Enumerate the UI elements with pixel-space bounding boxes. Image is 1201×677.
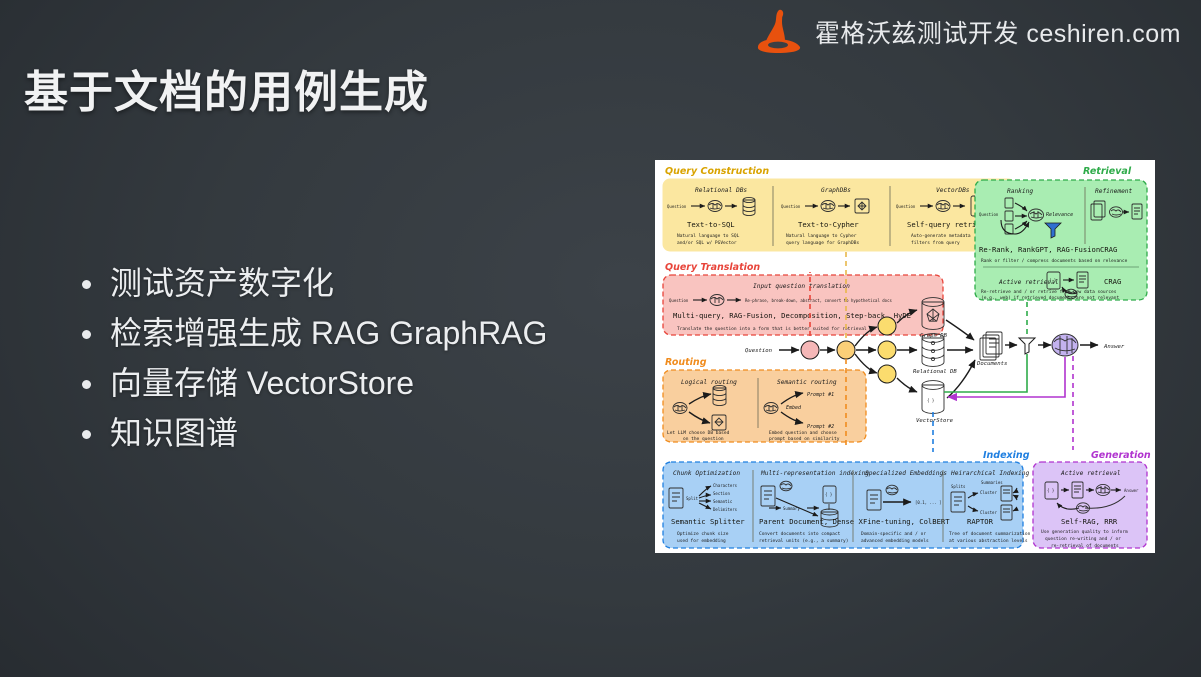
- brand-text: 霍格沃兹测试开发 ceshiren.com: [815, 14, 1181, 50]
- retrieval-active-desc1: Re-retrieve and / or retrive from new da…: [981, 289, 1117, 295]
- routing-col0-desc1: Let LLM choose DB based: [667, 430, 730, 436]
- idx-col0-desc2: used for embedding: [677, 538, 726, 544]
- idx-col3-desc2: at various abstraction levels: [949, 538, 1028, 544]
- retrieval-active-method: CRAG: [1104, 277, 1121, 286]
- list-item: 检索增强生成 RAG GraphRAG: [78, 308, 547, 358]
- section-title-routing: Routing: [665, 357, 707, 368]
- list-item: 知识图谱: [78, 408, 547, 458]
- idx-col0-split-item-0: Characters: [713, 483, 738, 488]
- retrieval-ranking-desc: Rank or filter / compress documents base…: [981, 258, 1128, 264]
- idx-col1-method: Parent Document, Dense X: [759, 517, 864, 526]
- routing-embed-label: Embed: [786, 405, 802, 411]
- idx-col2-desc2: advanced embedding models: [861, 538, 929, 544]
- idx-col1-desc1: Convert documents into compact: [759, 531, 841, 537]
- idx-col0-method: Semantic Splitter: [671, 517, 745, 526]
- center-node-relational-db: Relational DB: [913, 369, 957, 375]
- qc-col0-desc1: Natural language to SQL: [677, 233, 740, 239]
- routing-col1-heading: Semantic routing: [777, 378, 837, 386]
- idx-col3-cluster-2: Cluster: [980, 510, 997, 515]
- qc-col0-method: Text-to-SQL: [687, 220, 735, 229]
- retrieval-active-vector-glyph: { }: [1049, 278, 1056, 283]
- qt-heading: Input question translation: [753, 282, 850, 290]
- bullet-list: 测试资产数字化 检索增强生成 RAG GraphRAG 向量存储 VectorS…: [78, 258, 547, 458]
- retrieval-flow-in: Question: [979, 212, 999, 217]
- gen-desc3: re-retrieval of documents: [1051, 543, 1119, 549]
- qc-col0-desc2: and/or SQL w/ PGVector: [677, 240, 737, 246]
- routing-col1-desc2: prompt based on similarity: [769, 436, 840, 442]
- center-question-label: Question: [745, 348, 772, 354]
- brand-header: 霍格沃兹测试开发 ceshiren.com: [755, 8, 1181, 56]
- routing-col0-heading: Logical routing: [681, 378, 737, 386]
- section-title-query-construction: Query Construction: [665, 166, 769, 177]
- section-title-query-translation: Query Translation: [665, 262, 760, 273]
- section-title-generation: Generation: [1091, 450, 1151, 461]
- retrieval-active-desc2: (e.g., web) if retrieved documents are n…: [981, 295, 1119, 301]
- retrieval-relevance-label: Relevance: [1046, 212, 1073, 218]
- gen-desc2: question re-writing and / or: [1045, 536, 1121, 542]
- idx-col0-desc1: Optimize chunk size: [677, 531, 729, 537]
- qc-col1-method: Text-to-Cypher: [798, 220, 859, 229]
- qc-col2-desc1: Auto-generate metadata: [911, 233, 971, 239]
- gen-heading: Active retrieval: [1060, 469, 1121, 477]
- qc-col0-heading: Relational DBs: [695, 186, 747, 194]
- idx-col3-split-label: Splits: [951, 484, 966, 489]
- retrieval-col1-heading: Refinement: [1095, 187, 1133, 195]
- qc-col2-heading: VectorDBs: [936, 186, 970, 194]
- center-vectorstore-glyph: { }: [927, 398, 934, 403]
- idx-col1-desc2: retrieval units (e.g., a summary): [759, 538, 848, 544]
- wizard-hat-icon: [755, 8, 805, 56]
- idx-col0-split-item-3: Delimiters: [713, 507, 738, 512]
- idx-col2-vector-label: [0.1, ... ]: [915, 500, 942, 505]
- rag-overview-diagram: .ttl { font-family:"DejaVu Sans",sans-se…: [655, 160, 1155, 553]
- idx-col0-heading: Chunk Optimization: [673, 469, 740, 477]
- center-node-vectorstore: VectorStore: [916, 418, 954, 424]
- qc-col2-flow-in: Question: [896, 204, 916, 209]
- qc-col1-desc2: query language for GraphDBs: [786, 240, 859, 246]
- gen-flow-answer: Answer: [1124, 488, 1139, 493]
- idx-col2-heading: Specialized Embeddings: [865, 470, 947, 477]
- gen-vector-glyph: { }: [1047, 488, 1054, 493]
- list-item: 测试资产数字化: [78, 258, 547, 308]
- idx-col1-node-label: Summary: [783, 506, 800, 511]
- section-title-retrieval: Retrieval: [1083, 166, 1132, 177]
- idx-col0-split-item-2: Semantic: [713, 499, 733, 504]
- idx-col3-method: RAPTOR: [967, 517, 994, 526]
- qc-col0-flow-in: Question: [667, 204, 687, 209]
- qt-desc: Translate the question into a form that …: [677, 326, 867, 332]
- qt-flow-in: Question: [669, 298, 689, 303]
- center-documents-label: Documents: [976, 361, 1007, 367]
- idx-col2-desc1: Domain-specific and / or: [861, 531, 926, 537]
- routing-prompt-2: Prompt #2: [807, 424, 834, 430]
- idx-col0-split-label: Split: [686, 496, 699, 501]
- retrieval-refinement-method: CRAG: [1100, 245, 1117, 254]
- section-title-indexing: Indexing: [983, 450, 1030, 461]
- qc-col1-heading: GraphDBs: [821, 187, 851, 194]
- idx-col3-summaries-label: Summaries: [981, 480, 1003, 485]
- list-item: 向量存储 VectorStore: [78, 358, 547, 408]
- retrieval-col0-heading: Ranking: [1007, 188, 1033, 195]
- qt-methods: Multi-query, RAG-Fusion, Decomposition, …: [673, 311, 911, 320]
- retrieval-ranking-methods: Re-Rank, RankGPT, RAG-Fusion: [979, 245, 1100, 254]
- gen-desc1: Use generation quality to inform: [1041, 529, 1128, 535]
- qt-flow-out: Re-phrase, break-down, abstract, convert…: [745, 298, 892, 303]
- qc-col1-flow-in: Question: [781, 204, 801, 209]
- routing-col0-desc2: on the question: [683, 436, 724, 442]
- idx-col2-method: Fine-tuning, ColBERT: [863, 517, 950, 526]
- routing-prompt-1: Prompt #1: [807, 392, 834, 398]
- center-answer-label: Answer: [1103, 344, 1125, 350]
- idx-col3-desc1: Tree of document summarization: [949, 531, 1031, 537]
- idx-col3-heading: Heirarchical Indexing: [950, 470, 1030, 477]
- routing-col1-desc1: Embed question and choose: [769, 430, 837, 436]
- idx-col0-split-item-1: Section: [713, 491, 730, 496]
- qc-col1-desc1: Natural language to Cypher: [786, 233, 857, 239]
- idx-col1-vector-glyph: { }: [825, 492, 832, 497]
- idx-col3-cluster-1: Cluster: [980, 490, 997, 495]
- gen-method: Self-RAG, RRR: [1061, 517, 1118, 526]
- page-title: 基于文档的用例生成: [24, 56, 429, 120]
- qc-col2-desc2: filters from query: [911, 240, 960, 246]
